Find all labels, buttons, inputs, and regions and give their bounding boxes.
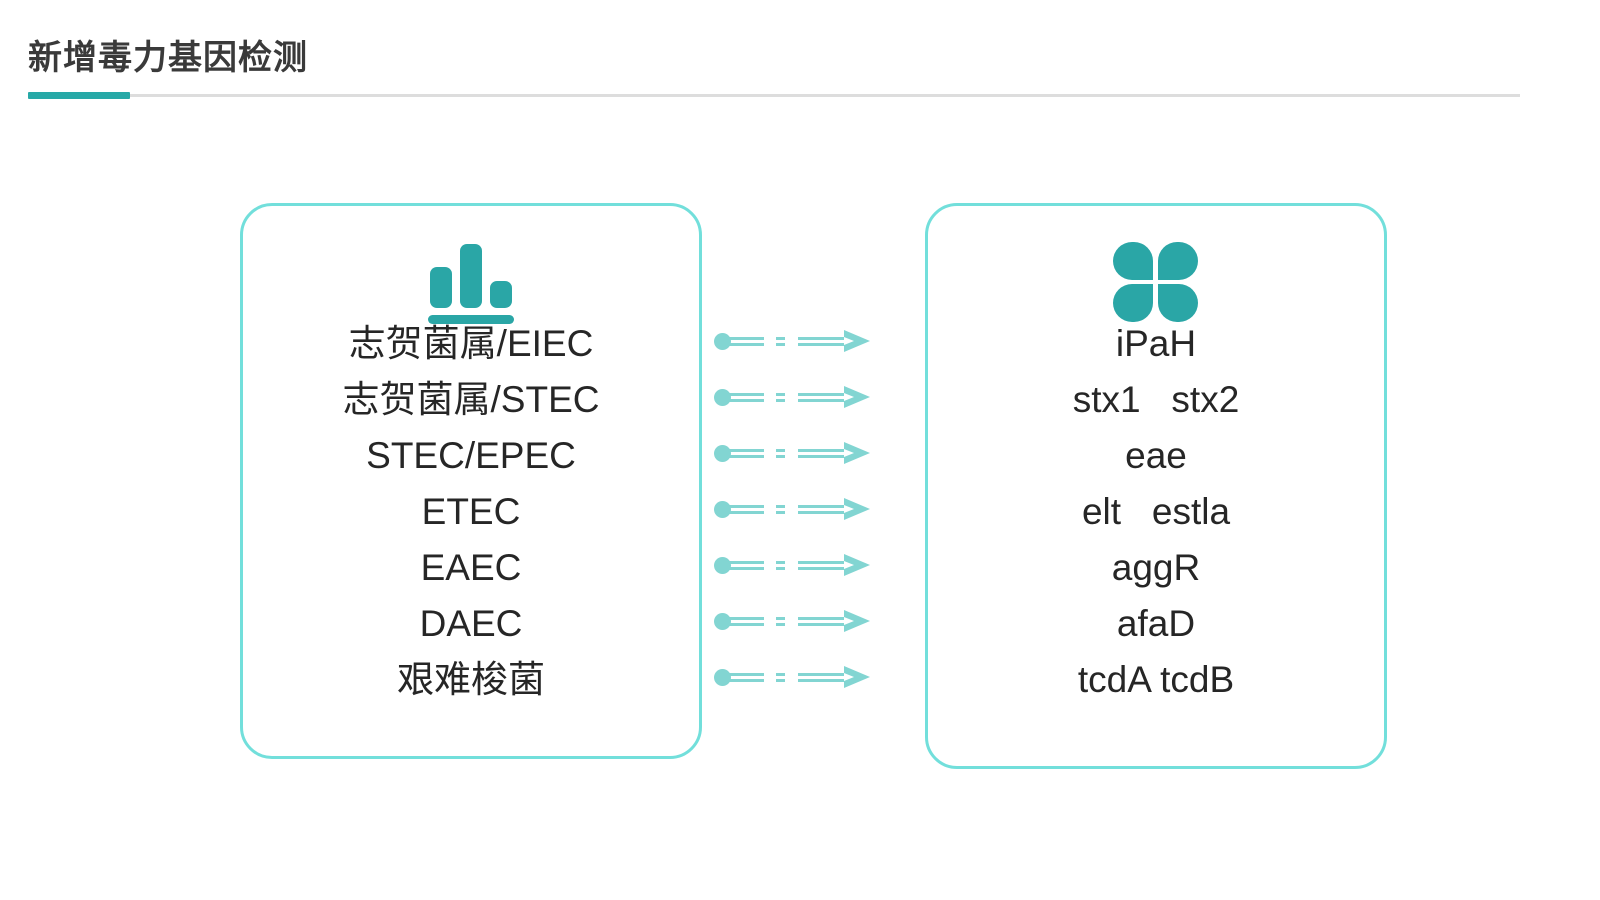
connector-row xyxy=(702,537,926,593)
list-item: afaD xyxy=(928,596,1384,652)
arrow-tail-dot xyxy=(714,333,731,350)
bar-chart-bar-2 xyxy=(460,244,482,308)
connector-row xyxy=(702,369,926,425)
page-title: 新增毒力基因检测 xyxy=(28,30,308,79)
connector-row xyxy=(702,425,926,481)
list-item: DAEC xyxy=(243,596,699,652)
list-item: 志贺菌属/EIEC xyxy=(243,316,699,372)
arrow-tail-dot xyxy=(714,613,731,630)
bar-chart-icon xyxy=(428,242,514,324)
gene-card-icon xyxy=(928,238,1384,324)
arrow-tail-dot xyxy=(714,445,731,462)
dotted-arrow-icon xyxy=(714,387,884,407)
bar-chart-bar-1 xyxy=(430,267,452,308)
list-item: aggR xyxy=(928,540,1384,596)
gene-list: iPaH stx1 stx2 eae elt estla aggR afaD t… xyxy=(928,316,1384,708)
arrow-tail-dot xyxy=(714,669,731,686)
clover-petal-top-right xyxy=(1158,242,1198,280)
list-item: 志贺菌属/STEC xyxy=(243,372,699,428)
arrow-tail-dot xyxy=(714,389,731,406)
title-accent-bar xyxy=(28,92,130,99)
arrow-tail-dot xyxy=(714,501,731,518)
list-item: 艰难梭菌 xyxy=(243,652,699,708)
list-item: ETEC xyxy=(243,484,699,540)
list-item: stx1 stx2 xyxy=(928,372,1384,428)
connector-row xyxy=(702,649,926,705)
list-item: eae xyxy=(928,428,1384,484)
dotted-arrow-icon xyxy=(714,443,884,463)
list-item: tcdA tcdB xyxy=(928,652,1384,708)
dotted-arrow-icon xyxy=(714,611,884,631)
list-item: STEC/EPEC xyxy=(243,428,699,484)
pathogen-list: 志贺菌属/EIEC 志贺菌属/STEC STEC/EPEC ETEC EAEC … xyxy=(243,316,699,708)
connector-row xyxy=(702,313,926,369)
connector-column xyxy=(702,313,926,763)
slide-header: 新增毒力基因检测 xyxy=(0,0,1600,120)
arrow-tail-dot xyxy=(714,557,731,574)
bar-chart-bar-3 xyxy=(490,281,512,308)
list-item: iPaH xyxy=(928,316,1384,372)
title-divider xyxy=(28,94,1520,97)
pathogen-card: 志贺菌属/EIEC 志贺菌属/STEC STEC/EPEC ETEC EAEC … xyxy=(240,203,702,759)
connector-row xyxy=(702,593,926,649)
dotted-arrow-icon xyxy=(714,499,884,519)
dotted-arrow-icon xyxy=(714,667,884,687)
connector-row xyxy=(702,481,926,537)
gene-card: iPaH stx1 stx2 eae elt estla aggR afaD t… xyxy=(925,203,1387,769)
clover-petal-top-left xyxy=(1113,242,1153,280)
dotted-arrow-icon xyxy=(714,331,884,351)
list-item: elt estla xyxy=(928,484,1384,540)
dotted-arrow-icon xyxy=(714,555,884,575)
pathogen-card-icon xyxy=(243,238,699,324)
clover-icon xyxy=(1111,240,1201,324)
list-item: EAEC xyxy=(243,540,699,596)
